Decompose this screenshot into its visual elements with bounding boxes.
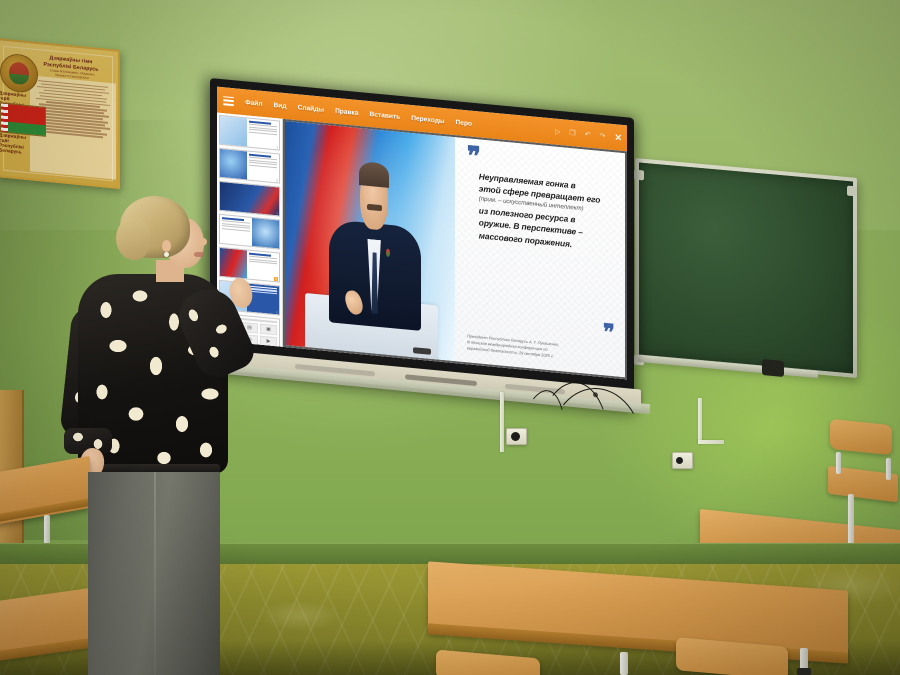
current-slide[interactable]: ❞ Неуправляемая гонка в этой сфере превр…	[285, 121, 625, 377]
state-hymn-poster: Дзяржаўны гімн Рэспублікі Беларусь Словы…	[0, 38, 120, 189]
menu-item-view[interactable]: Вид	[274, 101, 287, 109]
cable-conduit-left	[500, 392, 504, 452]
slide-canvas[interactable]: ❞ Неуправляемая гонка в этой сфере превр…	[283, 119, 627, 380]
chair-foot	[797, 668, 811, 675]
menu-item-slides[interactable]: Слайды	[298, 104, 325, 114]
cable-conduit-right-h	[698, 440, 724, 444]
hamburger-icon[interactable]	[223, 96, 234, 106]
list-item[interactable]: 1	[219, 115, 280, 151]
speaker-figure	[329, 161, 421, 331]
close-icon[interactable]: ✕	[614, 132, 622, 144]
chalkboard	[635, 158, 857, 378]
thumb-number-current: 5	[274, 277, 278, 281]
present-icon[interactable]: ▷	[555, 128, 560, 137]
ear	[162, 240, 171, 252]
thumb-number: 6	[276, 310, 278, 314]
chair-leg	[836, 452, 841, 474]
menu-item-file[interactable]: Файл	[245, 99, 263, 108]
classroom-photo: Дзяржаўны гімн Рэспублікі Беларусь Словы…	[0, 0, 900, 675]
restore-icon[interactable]: ❐	[569, 129, 575, 138]
hair-back	[116, 218, 150, 260]
flag-label: Дзяржаўны сцяг Рэспублікі Беларусь	[0, 132, 29, 155]
app-body: 1 2 3 4	[217, 113, 627, 380]
chair-back-right	[830, 419, 892, 456]
quote-attribution: Президент Республики Беларусь А. Г. Лука…	[467, 333, 603, 363]
menu-item-pen[interactable]: Перо	[456, 119, 472, 128]
quote-text: Неуправляемая гонка в этой сфере превращ…	[479, 170, 601, 253]
quote-mark-open-icon: ❞	[467, 147, 481, 167]
list-item[interactable]: 2	[219, 148, 280, 184]
board-clamp	[762, 359, 784, 377]
thumb-number: 3	[276, 211, 278, 215]
board-corner-tr	[847, 186, 857, 197]
thumb-number: 1	[276, 145, 278, 149]
image-icon[interactable]: ▣	[260, 324, 277, 336]
mouth	[194, 252, 204, 257]
thumb-number: 4	[276, 244, 278, 248]
media-icon[interactable]: ▶	[260, 336, 277, 347]
nose	[198, 238, 207, 246]
slide-photo	[285, 121, 455, 361]
cable-conduit-right	[698, 398, 702, 444]
menu-item-edit[interactable]: Правка	[335, 107, 358, 116]
undo-icon[interactable]: ↶	[585, 130, 591, 139]
flag-icon	[0, 102, 46, 136]
board-corner-tl	[634, 170, 644, 181]
earring	[164, 252, 169, 257]
chalkboard-surface	[639, 162, 853, 373]
interactive-flat-panel[interactable]: Файл Вид Слайды Правка Вставить Переходы…	[210, 78, 634, 400]
menu-item-transitions[interactable]: Переходы	[411, 114, 444, 124]
quote-mark-close-icon: ❞	[603, 324, 615, 341]
redo-icon[interactable]: ↷	[600, 132, 606, 141]
thumb-number: 2	[276, 178, 278, 182]
panel-screen[interactable]: Файл Вид Слайды Правка Вставить Переходы…	[217, 87, 627, 380]
teacher-legs-crease	[154, 472, 156, 675]
chair-leg	[886, 458, 891, 480]
menu-item-insert[interactable]: Вставить	[370, 111, 401, 121]
slide-quote-block: ❞ Неуправляемая гонка в этой сфере превр…	[455, 137, 625, 377]
wall-outlet-right	[672, 452, 693, 469]
chair-leg	[620, 652, 628, 675]
